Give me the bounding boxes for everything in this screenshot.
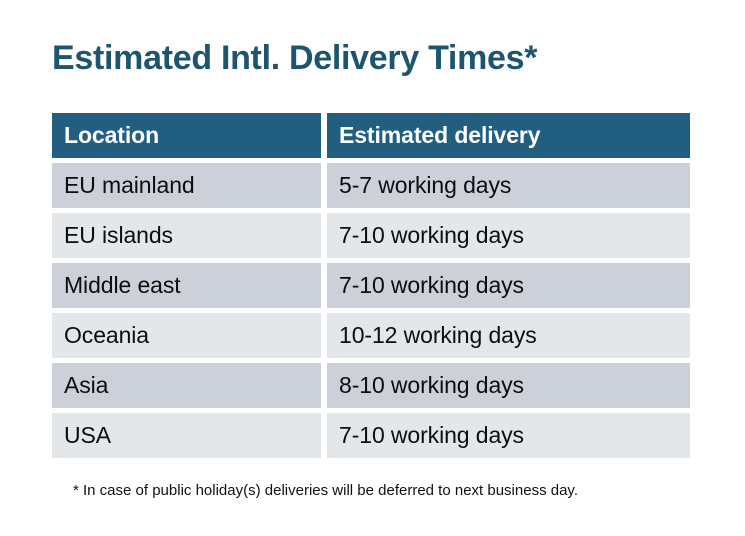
table-row: USA 7-10 working days bbox=[52, 413, 690, 458]
table-cell-location: Asia bbox=[52, 363, 321, 408]
footnote-text: * In case of public holiday(s) deliverie… bbox=[73, 481, 578, 501]
table-cell-location: EU mainland bbox=[52, 163, 321, 208]
table-row: EU mainland 5-7 working days bbox=[52, 163, 690, 208]
table-row: EU islands 7-10 working days bbox=[52, 213, 690, 258]
table-cell-delivery: 7-10 working days bbox=[327, 263, 690, 308]
table-cell-delivery: 8-10 working days bbox=[327, 363, 690, 408]
table-row: Asia 8-10 working days bbox=[52, 363, 690, 408]
table-row: Oceania 10-12 working days bbox=[52, 313, 690, 358]
table-cell-location: EU islands bbox=[52, 213, 321, 258]
table-row: Middle east 7-10 working days bbox=[52, 263, 690, 308]
table-cell-delivery: 7-10 working days bbox=[327, 213, 690, 258]
table-cell-delivery: 7-10 working days bbox=[327, 413, 690, 458]
table-cell-location: Oceania bbox=[52, 313, 321, 358]
page-container: Estimated Intl. Delivery Times* Location… bbox=[0, 0, 745, 536]
table-cell-delivery: 5-7 working days bbox=[327, 163, 690, 208]
table-cell-location: Middle east bbox=[52, 263, 321, 308]
table-cell-location: USA bbox=[52, 413, 321, 458]
column-header-location: Location bbox=[52, 113, 321, 158]
page-title: Estimated Intl. Delivery Times* bbox=[52, 36, 537, 80]
column-header-estimated-delivery: Estimated delivery bbox=[327, 113, 690, 158]
table-cell-delivery: 10-12 working days bbox=[327, 313, 690, 358]
table-header-row: Location Estimated delivery bbox=[52, 113, 690, 158]
delivery-times-table: Location Estimated delivery EU mainland … bbox=[52, 113, 690, 458]
